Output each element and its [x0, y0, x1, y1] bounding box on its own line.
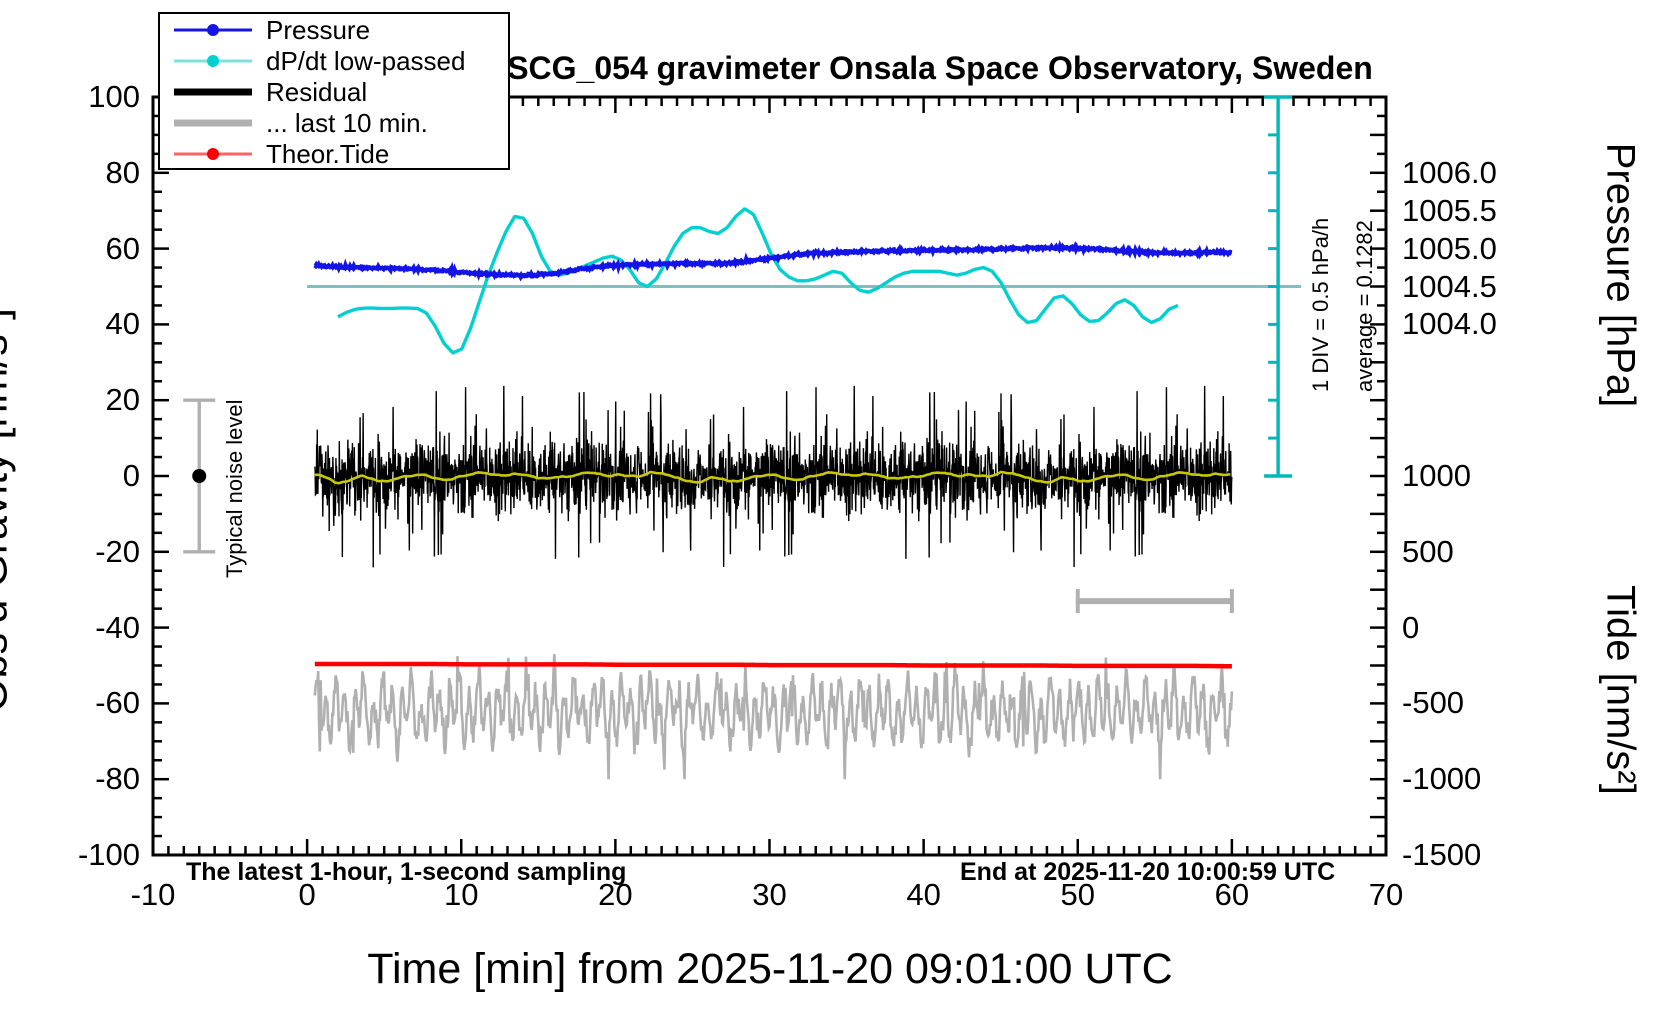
axis-tick-label: -40: [60, 610, 140, 646]
y-axis-left-title: Obs’d Gravity [nm/s²]: [0, 230, 18, 790]
axis-tick-label: -500: [1402, 685, 1464, 721]
axis-tick-label: 100: [60, 79, 140, 115]
axis-tick-label: -1000: [1402, 761, 1481, 797]
series-dpdt-lowpassed: [338, 209, 1178, 353]
x-axis-title: Time [min] from 2025-11-20 09:01:00 UTC: [170, 945, 1370, 994]
annotation-bottom-left: The latest 1-hour, 1-second sampling: [186, 858, 626, 887]
legend-label-pressure: Pressure: [266, 17, 370, 43]
legend-swatch-pressure: [174, 20, 252, 40]
last-10-min-indicator: [1078, 589, 1232, 613]
legend-swatch-residual: [174, 82, 252, 102]
axis-tick-label: 1005.0: [1402, 231, 1497, 267]
legend-swatch-last10: [174, 113, 252, 133]
series-theor-tide: [315, 664, 1232, 666]
axis-tick-label: -10: [131, 877, 176, 913]
axis-tick-label: 70: [1369, 877, 1403, 913]
axis-tick-label: 1005.5: [1402, 193, 1497, 229]
axis-tick-label: 1004.0: [1402, 306, 1497, 342]
legend-item-dpdt[interactable]: dP/dt low-passed: [160, 45, 508, 76]
y-axis-tide-title: Tide [nm/s²]: [1598, 475, 1643, 905]
axis-tick-label: 20: [60, 382, 140, 418]
axis-tick-label: 500: [1402, 534, 1454, 570]
legend-label-last10: ... last 10 min.: [266, 110, 428, 136]
axis-tick-label: 10: [444, 877, 478, 913]
axis-tick-label: 40: [906, 877, 940, 913]
axis-tick-label: 1006.0: [1402, 155, 1497, 191]
axis-tick-label: 1004.5: [1402, 269, 1497, 305]
chart-canvas: SCG_054 gravimeter Onsala Space Observat…: [0, 0, 1660, 1020]
axis-tick-label: -20: [60, 534, 140, 570]
legend-swatch-dpdt: [174, 51, 252, 71]
legend-item-theortide[interactable]: Theor.Tide: [160, 138, 508, 169]
axis-tick-label: 0: [60, 458, 140, 494]
legend-label-theortide: Theor.Tide: [266, 141, 389, 167]
legend-item-pressure[interactable]: Pressure: [160, 14, 508, 45]
y-axis-left-ticks: [153, 97, 169, 855]
legend-label-residual: Residual: [266, 79, 367, 105]
series-pressure: [315, 246, 1232, 276]
axis-tick-label: -80: [60, 761, 140, 797]
axis-tick-label: 0: [299, 877, 316, 913]
x-axis-ticks: [153, 839, 1386, 855]
axis-tick-label: -1500: [1402, 837, 1481, 873]
axis-tick-label: 1000: [1402, 458, 1471, 494]
noise-bar-label: Typical noise level: [222, 399, 248, 578]
scale-bar-div-label: 1 DIV = 0.5 hPa/h: [1308, 218, 1334, 392]
legend-swatch-theortide: [174, 144, 252, 164]
axis-tick-label: 60: [1215, 877, 1249, 913]
axis-tick-label: 0: [1402, 610, 1419, 646]
axis-tick-label: 40: [60, 306, 140, 342]
typical-noise-bar: [183, 400, 215, 552]
axis-tick-label: 80: [60, 155, 140, 191]
series-last-10-min: [315, 654, 1232, 779]
axis-tick-label: 20: [598, 877, 632, 913]
y-axis-pressure-title: Pressure [hPa]: [1598, 60, 1643, 490]
scale-bar-average-label: average = 0.1282: [1352, 220, 1378, 392]
axis-tick-label: -60: [60, 685, 140, 721]
axis-tick-label: 50: [1061, 877, 1095, 913]
y-axis-right-ticks: [1370, 97, 1386, 855]
legend-item-residual[interactable]: Residual: [160, 76, 508, 107]
axis-tick-label: -100: [60, 837, 140, 873]
annotation-bottom-right: End at 2025-11-20 10:00:59 UTC: [960, 858, 1335, 887]
legend-item-last10[interactable]: ... last 10 min.: [160, 107, 508, 138]
axis-tick-label: 30: [752, 877, 786, 913]
legend: Pressure dP/dt low-passed Residual ... l…: [158, 12, 510, 170]
series-residual: [315, 386, 1232, 568]
page-title: SCG_054 gravimeter Onsala Space Observat…: [507, 50, 1373, 87]
legend-label-dpdt: dP/dt low-passed: [266, 48, 465, 74]
axis-tick-label: 60: [60, 231, 140, 267]
